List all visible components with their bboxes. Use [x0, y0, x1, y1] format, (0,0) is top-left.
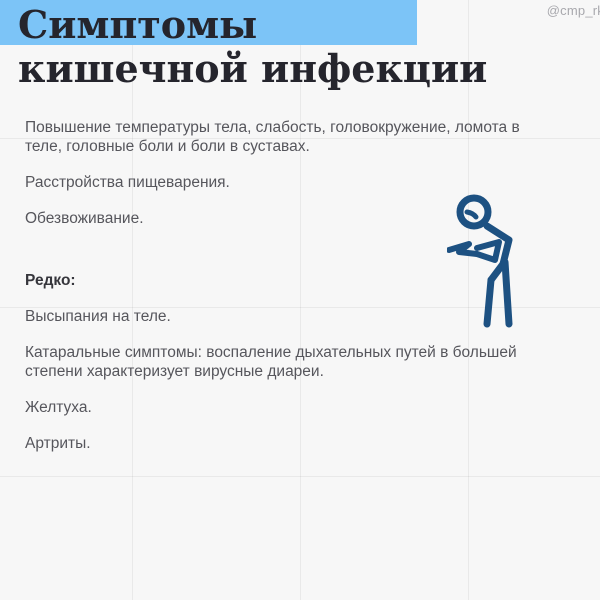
rare-symptom-item: Катаральные симптомы: воспаление дыхател… — [25, 343, 545, 381]
rare-symptom-item: Артриты. — [25, 434, 553, 453]
page-title: Симптомы кишечной инфекции — [0, 0, 600, 45]
title-line-1: Симптомы — [18, 6, 257, 44]
illustration — [447, 192, 547, 332]
title-highlight-row: Симптомы — [0, 0, 600, 45]
rare-symptom-item: Желтуха. — [25, 398, 553, 417]
infographic-card: @cmp_rk Симптомы кишечной инфекции Повыш… — [0, 0, 600, 600]
symptom-item: Повышение температуры тела, слабость, го… — [25, 118, 545, 156]
symptom-item: Расстройства пищеварения. — [25, 173, 553, 192]
person-vomiting-icon — [447, 192, 547, 332]
title-line-2: кишечной инфекции — [18, 50, 487, 88]
